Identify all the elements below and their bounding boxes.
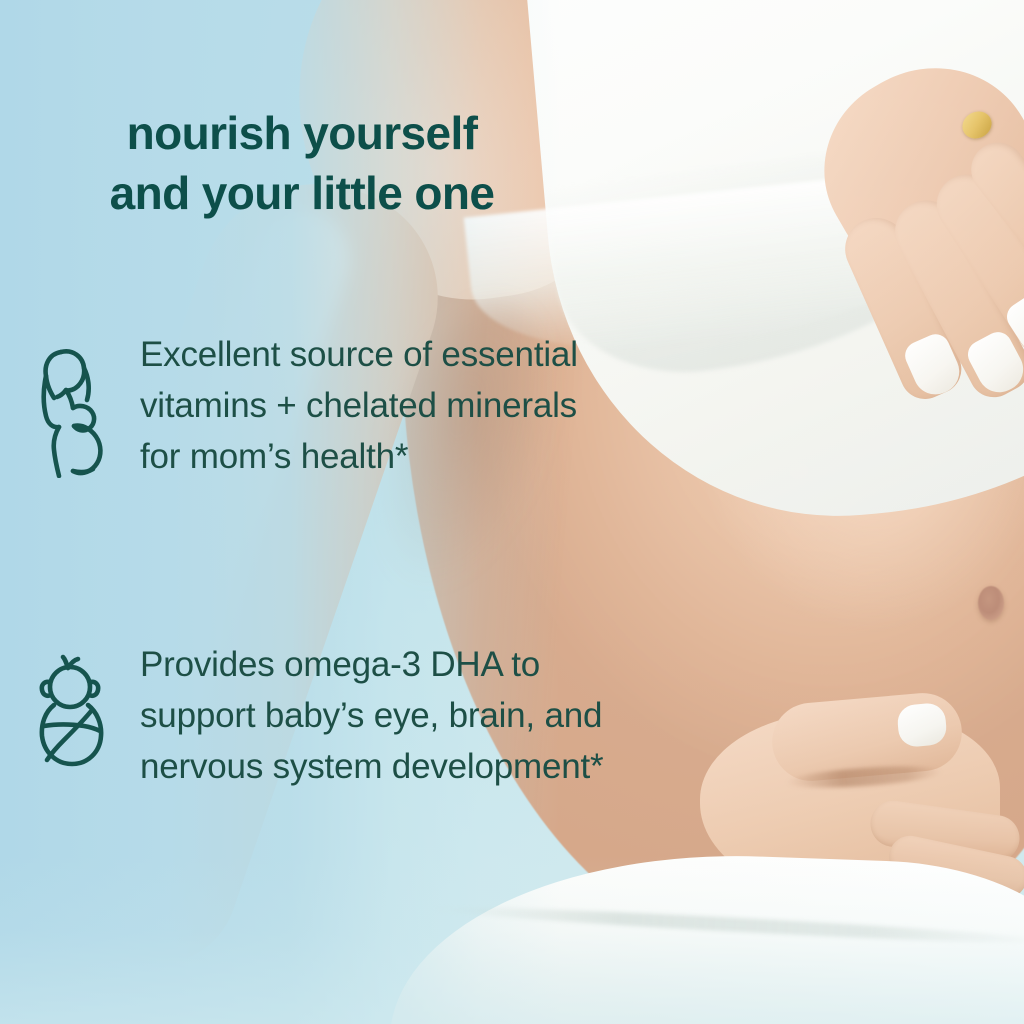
benefit-item-1: Excellent source of essential vitamins +… [26, 330, 626, 482]
headline-line-1: nourish yourself [0, 104, 604, 164]
headline-line-2: and your little one [0, 164, 604, 224]
benefit-text-1: Excellent source of essential vitamins +… [140, 330, 610, 482]
benefit-text-2: Provides omega-3 DHA to support baby’s e… [140, 640, 610, 792]
benefit-item-2: Provides omega-3 DHA to support baby’s e… [26, 640, 626, 792]
pregnant-woman-icon [26, 330, 118, 480]
page-title: nourish yourself and your little one [0, 104, 604, 224]
promo-graphic: nourish yourself and your little one [0, 0, 1024, 1024]
content-layer: nourish yourself and your little one [0, 0, 1024, 1024]
swaddled-baby-icon [26, 640, 118, 790]
